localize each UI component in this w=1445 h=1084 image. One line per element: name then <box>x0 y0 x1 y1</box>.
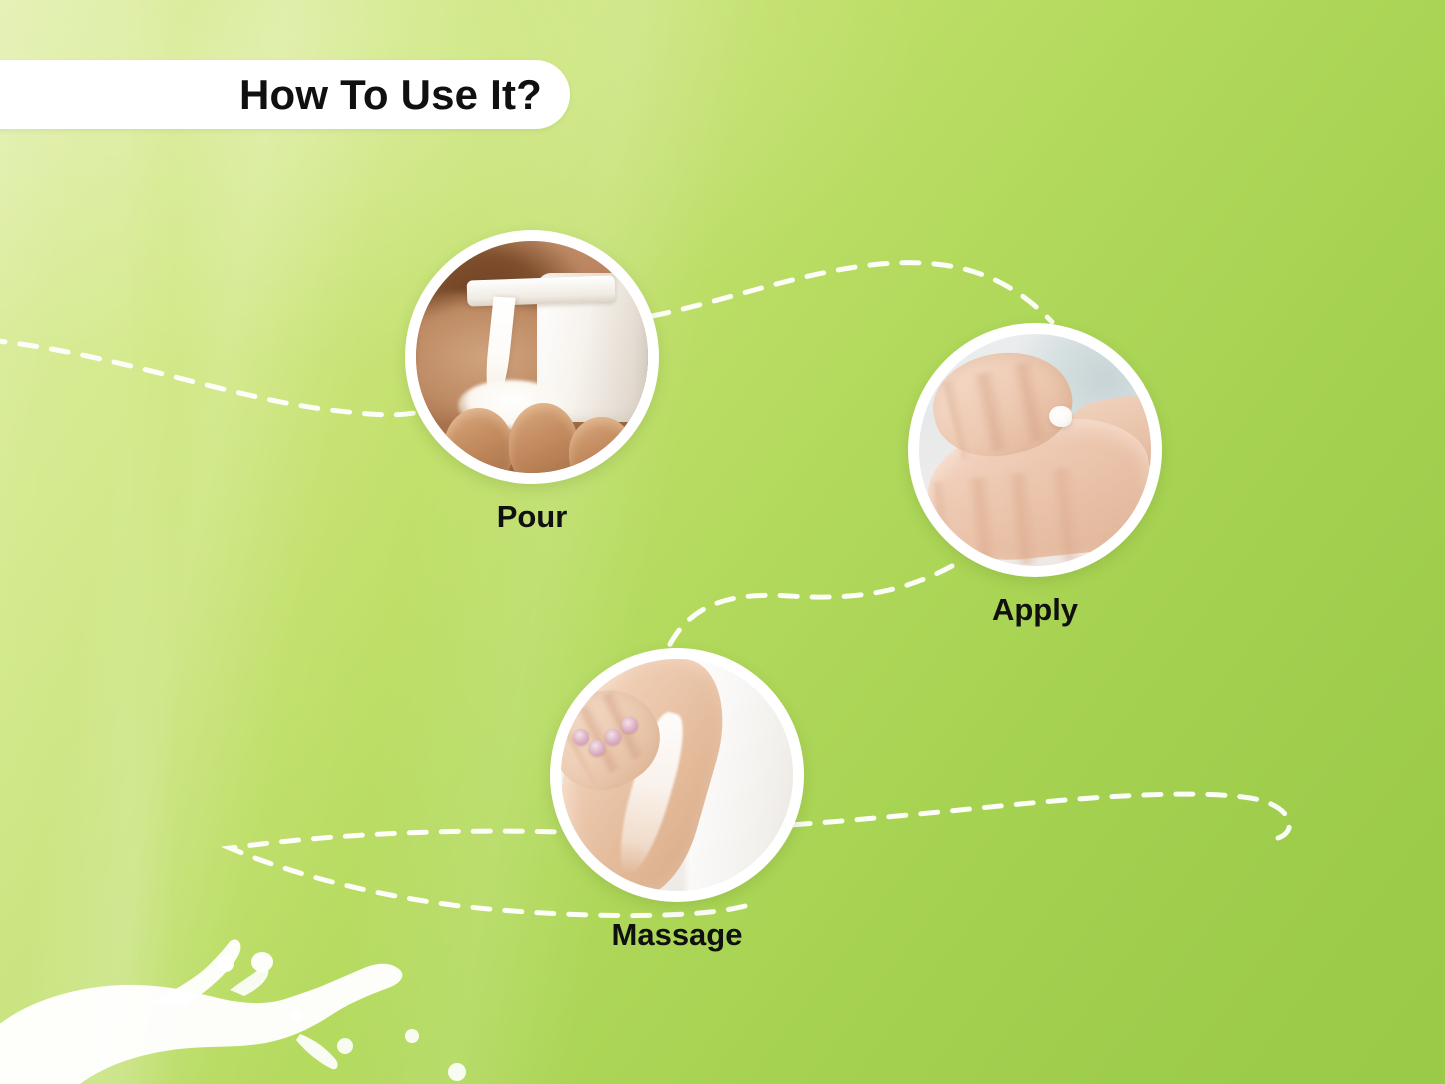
infographic-canvas: How To Use It? Pour <box>0 0 1445 1084</box>
nail-icon <box>605 729 621 745</box>
nail-icon <box>573 729 589 745</box>
cream-dab-icon <box>1049 406 1072 427</box>
nail-icon <box>621 717 637 733</box>
step-massage-label: Massage <box>550 918 804 952</box>
massage-photo-icon <box>561 659 793 891</box>
step-apply-label: Apply <box>908 593 1162 627</box>
step-pour-photo-ring <box>405 230 659 484</box>
step-apply[interactable]: Apply <box>908 323 1162 627</box>
lotion-bottle-cap-icon <box>467 276 616 307</box>
step-pour[interactable]: Pour <box>405 230 659 534</box>
step-pour-label: Pour <box>405 500 659 534</box>
apply-photo-icon <box>919 334 1151 566</box>
title-banner: How To Use It? <box>0 60 570 129</box>
pour-photo-icon <box>416 241 648 473</box>
step-apply-photo-ring <box>908 323 1162 577</box>
step-massage-photo-ring <box>550 648 804 902</box>
step-massage[interactable]: Massage <box>550 648 804 952</box>
lower-hand-fingers <box>933 465 1109 566</box>
page-title: How To Use It? <box>239 74 542 116</box>
